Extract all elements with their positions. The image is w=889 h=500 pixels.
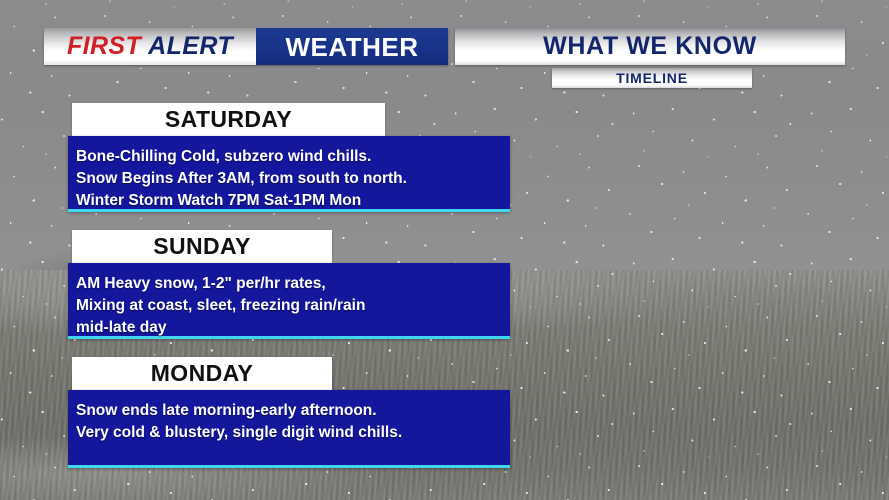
day-detail-line: Snow ends late morning-early afternoon. (76, 400, 510, 422)
brand-first-text: FIRST (67, 34, 141, 59)
headline-bar: WHAT WE KNOW (455, 28, 845, 65)
timeline-day-monday: MONDAY Snow ends late morning-early afte… (68, 357, 510, 468)
timeline-day-sunday: SUNDAY AM Heavy snow, 1-2" per/hr rates,… (68, 230, 510, 339)
day-detail-line: Very cold & blustery, single digit wind … (76, 422, 510, 444)
day-detail-line: Winter Storm Watch 7PM Sat-1PM Mon (76, 190, 510, 212)
first-alert-wordmark: FIRST ALERT (44, 28, 256, 65)
day-detail-line: Snow Begins After 3AM, from south to nor… (76, 168, 510, 190)
day-detail-line: Mixing at coast, sleet, freezing rain/ra… (76, 295, 510, 317)
day-detail-panel: Snow ends late morning-early afternoon. … (68, 390, 510, 468)
brand-alert-text: ALERT (148, 34, 233, 59)
brand-weather-text: WEATHER (285, 34, 418, 60)
day-detail-line: Bone-Chilling Cold, subzero wind chills. (76, 146, 510, 168)
headline-text: WHAT WE KNOW (543, 34, 757, 59)
day-title-label: MONDAY (151, 362, 254, 385)
subhead-bar: TIMELINE (552, 68, 752, 88)
timeline-day-saturday: SATURDAY Bone-Chilling Cold, subzero win… (68, 103, 510, 212)
day-title-label: SUNDAY (153, 235, 250, 258)
day-detail-line: AM Heavy snow, 1-2" per/hr rates, (76, 273, 510, 295)
subhead-text: TIMELINE (616, 71, 688, 85)
day-detail-panel: Bone-Chilling Cold, subzero wind chills.… (68, 136, 510, 212)
day-title-box: SUNDAY (72, 230, 332, 263)
weather-graphic-screen: FIRST ALERT WEATHER WHAT WE KNOW TIMELIN… (0, 0, 889, 500)
day-detail-line: mid-late day (76, 317, 510, 339)
day-title-box: MONDAY (72, 357, 332, 390)
day-detail-panel: AM Heavy snow, 1-2" per/hr rates, Mixing… (68, 263, 510, 339)
day-title-box: SATURDAY (72, 103, 385, 136)
weather-wordmark-panel: WEATHER (256, 28, 448, 65)
day-title-label: SATURDAY (165, 108, 292, 131)
first-alert-weather-logo: FIRST ALERT WEATHER (44, 28, 448, 65)
